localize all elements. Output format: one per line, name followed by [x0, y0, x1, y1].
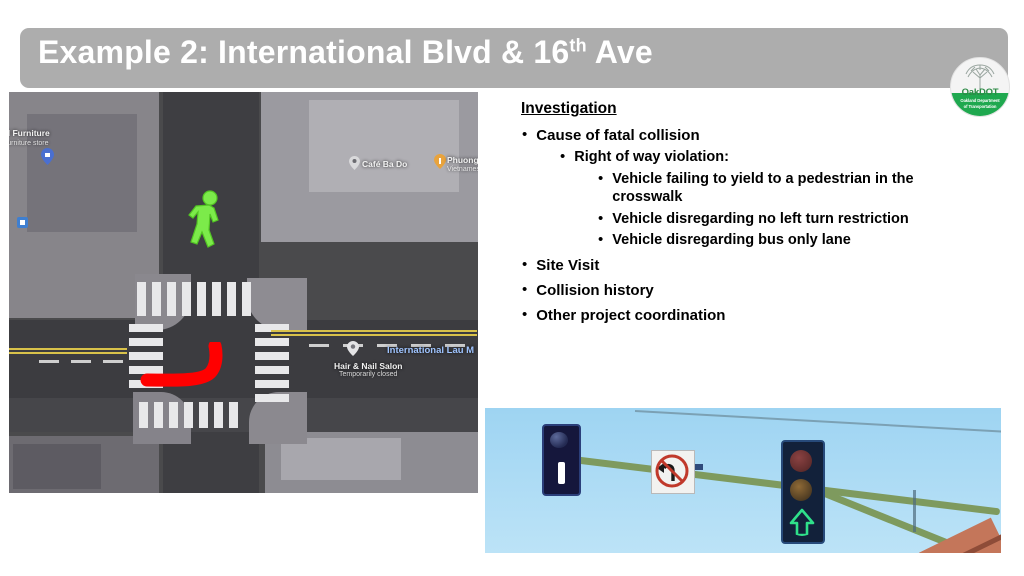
map-pin-icon-cafe: [349, 156, 360, 170]
bullet-label: Other project coordination: [536, 306, 725, 325]
map-transit-icon: [17, 217, 28, 228]
traffic-signal-photo: [485, 408, 1001, 553]
bullet-item-site-visit: • Site Visit: [522, 256, 1018, 275]
bullet-label: Vehicle disregarding no left turn restri…: [612, 210, 909, 228]
page-title-tail: Ave: [587, 34, 653, 70]
aerial-map-image: al Furniture Furniture store Café Ba Do …: [9, 92, 478, 493]
map-sublabel-phuong: Vietnamese: [447, 166, 478, 173]
map-label-furniture: al Furniture: [9, 128, 50, 138]
bullet-item-right-of-way-violation: • Right of way violation:: [560, 148, 1018, 167]
pedestrian-symbol-icon: [187, 190, 231, 250]
map-roof-southwest: [13, 444, 101, 489]
red-left-turn-arrow: [137, 342, 232, 397]
map-pin-icon-furniture: [41, 148, 54, 165]
page-title-main: Example 2: International Blvd & 16: [38, 34, 569, 70]
map-label-international: International Lau M: [387, 345, 474, 356]
bullet-label: Site Visit: [536, 256, 599, 275]
map-label-phuong: Phuong: [447, 155, 478, 165]
map-sublabel-salon: Temporarily closed: [339, 371, 397, 378]
oak-tree-icon: [960, 63, 1000, 89]
bullet-label: Cause of fatal collision: [536, 126, 699, 145]
bullet-icon: •: [522, 126, 527, 145]
signal-dark-lens: [550, 432, 568, 448]
bullet-item-cause-of-fatal-collision: • Cause of fatal collision: [522, 126, 1018, 145]
map-roof-northeast: [309, 100, 459, 192]
map-label-cafe: Café Ba Do: [362, 159, 407, 169]
page-title-ordinal: th: [569, 35, 586, 55]
content-column: Investigation • Cause of fatal collision…: [518, 100, 1018, 328]
bullet-label: Collision history: [536, 281, 654, 300]
bullet-icon: •: [522, 306, 527, 325]
logo-wordmark: OakDOT: [951, 87, 1009, 98]
bullet-icon: •: [522, 281, 527, 300]
bullet-item-no-left-turn: • Vehicle disregarding no left turn rest…: [598, 210, 1018, 229]
amber-lens: [790, 479, 812, 501]
bullet-icon: •: [598, 170, 603, 189]
bullet-label: Right of way violation:: [574, 148, 729, 166]
bullet-item-failing-to-yield: • Vehicle failing to yield to a pedestri…: [598, 170, 1018, 207]
map-pin-icon-restaurant: [434, 154, 446, 169]
map-label-salon: Hair & Nail Salon: [334, 361, 403, 371]
bullet-item-other-project-coordination: • Other project coordination: [522, 306, 1018, 325]
page-title: Example 2: International Blvd & 16th Ave: [38, 34, 653, 71]
bullet-item-bus-only-lane: • Vehicle disregarding bus only lane: [598, 231, 1018, 250]
bullet-label: Vehicle failing to yield to a pedestrian…: [612, 170, 957, 207]
bullet-icon: •: [598, 210, 603, 229]
bullet-label: Vehicle disregarding bus only lane: [612, 231, 851, 249]
bullet-icon: •: [522, 256, 527, 275]
bullet-icon: •: [598, 231, 603, 250]
green-arrow-indication-icon: [787, 508, 817, 536]
map-sublabel-furniture: Furniture store: [9, 140, 49, 147]
bullet-icon: •: [560, 148, 565, 167]
bullet-item-collision-history: • Collision history: [522, 281, 1018, 300]
slide-title-bar: Example 2: International Blvd & 16th Ave…: [20, 28, 1008, 88]
traffic-signal-head-icon: [781, 440, 825, 544]
no-left-turn-sign-icon: [651, 450, 695, 494]
bus-only-lane-signal-icon: [542, 424, 581, 496]
map-roof-southeast: [281, 438, 401, 480]
map-pin-icon-salon: [347, 341, 359, 356]
signal-pole-drop-wire: [913, 490, 916, 532]
map-international-blvd-south: [9, 398, 478, 432]
red-lens: [790, 450, 812, 472]
white-vertical-bar-indication: [558, 462, 565, 484]
investigation-heading: Investigation: [518, 100, 1018, 118]
